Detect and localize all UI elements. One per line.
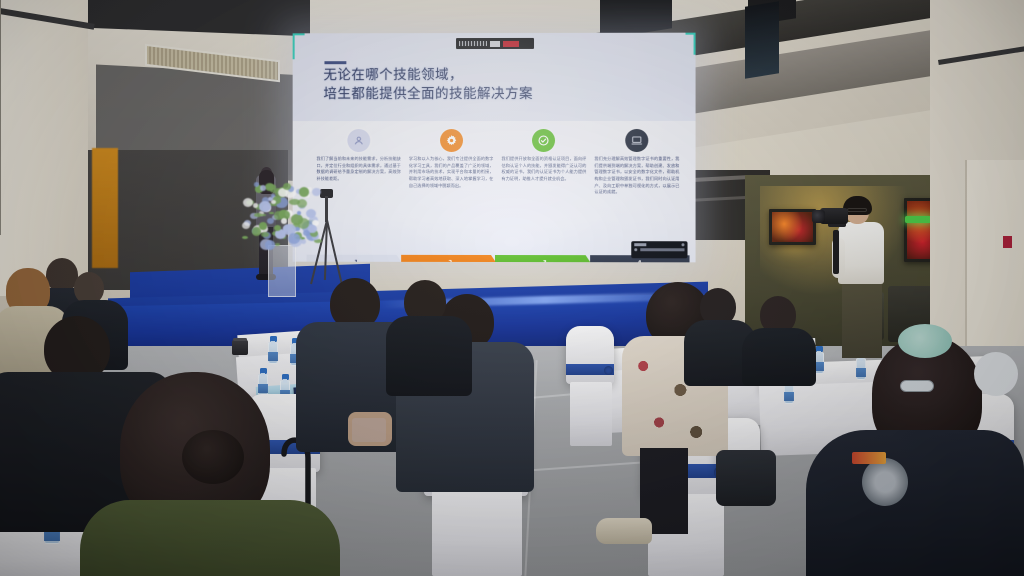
flower-petal xyxy=(288,233,300,244)
flower-arrangement xyxy=(242,182,322,254)
step-chevron-1: 1 诊断 xyxy=(307,255,406,263)
water-bottle-4[interactable] xyxy=(258,368,268,396)
slide-surface: 无论在哪个技能领域， 培生都能提供全面的技能解决方案 我们了解当前和未来的技能需… xyxy=(293,33,696,263)
wall-pillar-left xyxy=(0,0,88,296)
hair-clip xyxy=(900,380,934,392)
flower-petal xyxy=(312,188,321,196)
flower-petal xyxy=(242,236,248,239)
water-bottle-1[interactable] xyxy=(268,336,278,364)
toolbar-strip-icon xyxy=(459,41,487,46)
flower-petal xyxy=(265,240,276,250)
projection-screen[interactable]: 无论在哪个技能领域， 培生都能提供全面的技能解决方案 我们了解当前和未来的技能需… xyxy=(293,33,696,263)
popup-title-bar xyxy=(634,243,646,246)
green-led-indicator xyxy=(905,216,931,223)
slide-corner-accent-right xyxy=(686,33,696,55)
flower-petal xyxy=(281,218,287,224)
toolbar-button-icon[interactable] xyxy=(490,40,500,46)
popup-bullet-icon xyxy=(634,248,637,251)
slide-column-2-body: 学习和以人为核心，我们专注提供全面的数字化学习工具，我们的产品覆盖了广泛的领域，… xyxy=(409,156,494,189)
check-badge-certification-icon xyxy=(532,129,555,152)
flower-petal xyxy=(267,218,274,224)
glasses-icon xyxy=(847,208,867,212)
record-button-icon[interactable] xyxy=(503,40,519,46)
flower-petal xyxy=(243,198,253,207)
slide-title-line1: 无论在哪个技能领域， xyxy=(323,66,653,86)
flower-petal xyxy=(261,214,266,216)
flower-petal xyxy=(283,183,291,190)
title-rule xyxy=(324,61,346,64)
flower-petal xyxy=(252,227,261,235)
coffee-cup-left[interactable] xyxy=(232,340,248,355)
flower-petal xyxy=(299,187,309,196)
slide-title: 无论在哪个技能领域， 培生都能提供全面的技能解决方案 xyxy=(323,66,653,105)
screen-frame-side xyxy=(0,0,1,235)
flower-petal xyxy=(308,225,317,233)
popup-text-bar xyxy=(640,248,684,251)
flower-petal xyxy=(274,225,281,231)
slide-corner-accent-left xyxy=(293,33,305,59)
flower-petal xyxy=(242,222,250,229)
jacket-emblem xyxy=(862,458,908,506)
camera-lens xyxy=(812,210,825,223)
slide-columns: 我们了解当前和未来的技能需求，分析技能缺口，并定位行业和组织的具体需求，通过基于… xyxy=(313,129,684,249)
videographer-pants xyxy=(842,282,882,358)
slide-column-4-body: 我们充分理解高效管理数字证书的重要性，我们提供端到端的解决方案，帮助创建、发放和… xyxy=(594,156,679,196)
step-chevron-3: 3 资格认证 xyxy=(495,255,595,262)
gear-learning-tools-icon xyxy=(440,129,463,152)
gimbal-handle xyxy=(833,230,839,274)
popup-close-icon[interactable] xyxy=(681,243,684,246)
amber-doorway xyxy=(92,148,118,268)
user-diagnosis-icon xyxy=(347,129,370,152)
laptop-digital-credential-icon xyxy=(625,129,648,152)
popup-row-2 xyxy=(634,248,684,251)
tripod-column xyxy=(325,196,328,222)
slide-column-1-body: 我们了解当前和未来的技能需求，分析技能缺口，并定位行业和组织的具体需求，通过基于… xyxy=(317,156,401,182)
step-chevron-2: 2 学习工具 xyxy=(401,255,500,262)
popup-row-1 xyxy=(634,243,684,246)
flower-petal xyxy=(253,203,258,208)
sneaker xyxy=(596,518,652,544)
hand xyxy=(348,412,392,446)
jacket-ribbon xyxy=(852,452,886,464)
slide-title-line2: 培生都能提供全面的技能解决方案 xyxy=(323,85,653,104)
slide-column-3-body: 我们提供开放和全面的资格认证项目，面向评估和认证个人的技能，并颁发能得广泛认可的… xyxy=(501,156,586,183)
painting-left xyxy=(769,209,816,245)
flower-petal xyxy=(306,209,316,218)
slide-column-2: 学习和以人为核心，我们专注提供全面的数字化学习工具，我们的产品覆盖了广泛的领域，… xyxy=(405,129,498,249)
flower-petal xyxy=(261,232,269,237)
flower-petal xyxy=(266,184,277,190)
upper-window xyxy=(745,1,779,78)
flower-petal xyxy=(275,243,280,246)
presentation-toolbar[interactable] xyxy=(456,38,534,49)
notification-popup[interactable] xyxy=(631,241,687,258)
slide-column-4: 我们充分理解高效管理数字证书的重要性，我们提供端到端的解决方案，帮助创建、发放和… xyxy=(590,129,683,249)
flower-petal xyxy=(289,199,299,205)
conference-room-scene: 无论在哪个技能领域， 培生都能提供全面的技能解决方案 我们了解当前和未来的技能需… xyxy=(0,0,1024,576)
door-sign xyxy=(1003,236,1012,248)
step-4-number: 4 xyxy=(638,261,642,262)
backpack xyxy=(716,450,776,506)
slide-column-3: 我们提供开放和全面的资格认证项目，面向评估和认证个人的技能，并颁发能得广泛认可的… xyxy=(497,129,590,249)
